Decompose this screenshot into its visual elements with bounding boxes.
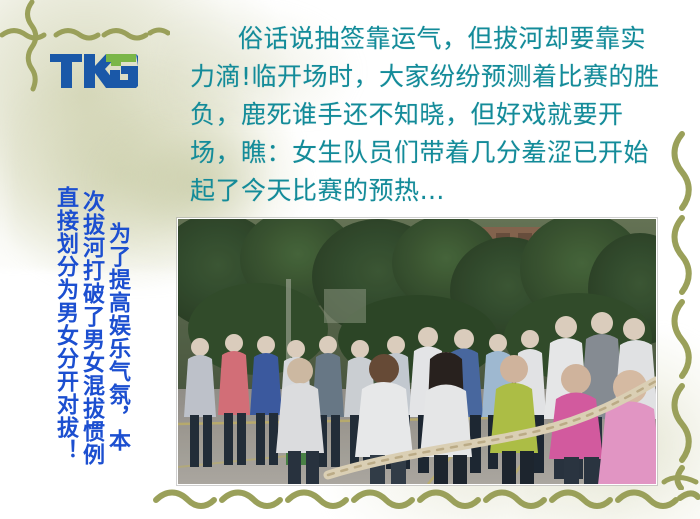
event-photo [177, 218, 657, 485]
vertical-caption-column: 次拔河打破了男女混拔惯例 [78, 190, 104, 466]
squiggle-border-left-icon [16, 0, 46, 92]
tug-of-war-photo-illustration [178, 219, 656, 484]
presentation-slide: 俗话说抽签靠运气，但拔河却要靠实力滴!临开场时，大家纷纷预测着比赛的胜负，鹿死谁… [0, 0, 700, 519]
vertical-caption-column: 直接划分为男女分开对拔！ [52, 186, 78, 462]
tkg-logo-icon [48, 48, 140, 92]
vertical-caption: 为了提高娱乐气氛，本 次拔河打破了男女混拔惯例 直接划分为男女分开对拔！ [52, 186, 130, 486]
vertical-caption-column: 为了提高娱乐气氛，本 [104, 222, 130, 452]
slide-headline-text: 俗话说抽签靠运气，但拔河却要靠实力滴!临开场时，大家纷纷预测着比赛的胜负，鹿死谁… [190, 20, 670, 210]
